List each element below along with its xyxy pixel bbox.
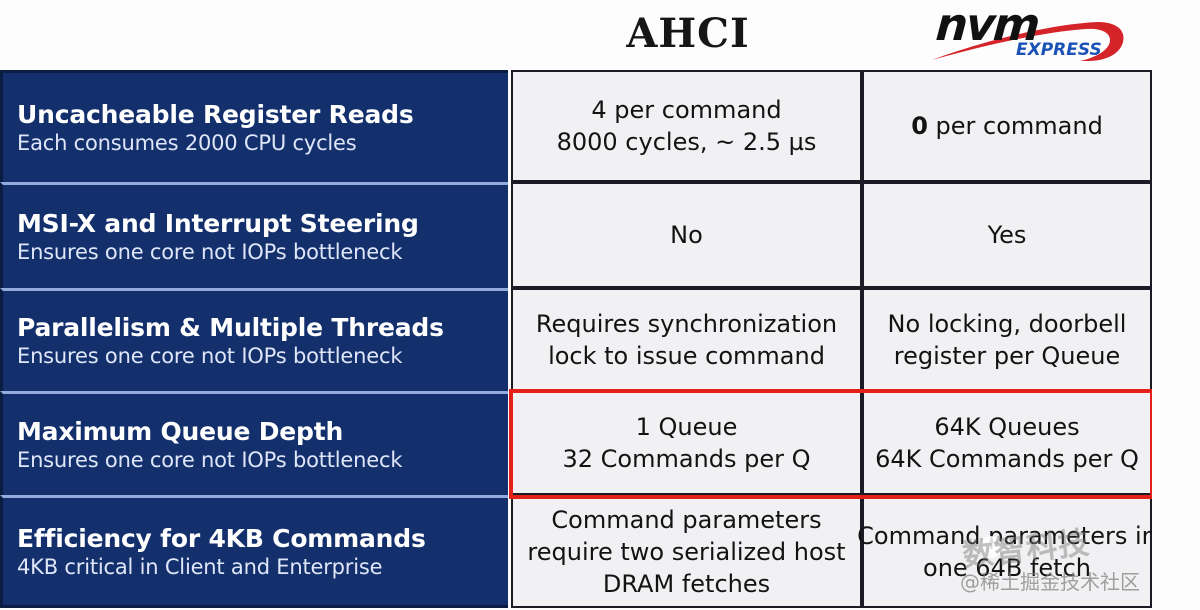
ahci-value-cell: Command parameters require two serialize… (511, 495, 862, 608)
watermark-handle: @稀土掘金技术社区 (960, 570, 1140, 594)
value-line: Yes (988, 219, 1027, 251)
feature-title: MSI-X and Interrupt Steering (17, 208, 508, 239)
comparison-table: Uncacheable Register Reads Each consumes… (0, 70, 1152, 608)
value-line: lock to issue command (548, 340, 825, 372)
value-line: DRAM fetches (603, 568, 770, 600)
ahci-value-cell: 4 per command 8000 cycles, ~ 2.5 µs (511, 70, 862, 182)
feature-subtitle: 4KB critical in Client and Enterprise (17, 554, 508, 581)
feature-title: Uncacheable Register Reads (17, 99, 508, 130)
table-row: Maximum Queue Depth Ensures one core not… (0, 391, 1152, 495)
value-line: No locking, doorbell (888, 308, 1127, 340)
header: AHCI nvm EXPRESS (0, 0, 1200, 70)
nvme-value-cell: 0 per command (862, 70, 1152, 182)
feature-label-cell: Uncacheable Register Reads Each consumes… (0, 70, 508, 182)
value-line: require two serialized host (527, 536, 845, 568)
feature-subtitle: Ensures one core not IOPs bottleneck (17, 447, 508, 474)
feature-label-cell: Efficiency for 4KB Commands 4KB critical… (0, 495, 508, 608)
value-line: 64K Queues (934, 411, 1079, 443)
feature-title: Parallelism & Multiple Threads (17, 312, 508, 343)
column-header-nvme-express-logo: nvm EXPRESS (862, 0, 1152, 68)
ahci-value-cell: No (511, 182, 862, 288)
feature-subtitle: Each consumes 2000 CPU cycles (17, 130, 508, 157)
nvme-value-cell: Yes (862, 182, 1152, 288)
table-row: Uncacheable Register Reads Each consumes… (0, 70, 1152, 182)
nvme-logo-express-text: EXPRESS (1016, 42, 1102, 59)
ahci-value-cell: 1 Queue 32 Commands per Q (511, 391, 862, 495)
value-emphasis: 0 (911, 112, 928, 140)
feature-title: Efficiency for 4KB Commands (17, 523, 508, 554)
ahci-value-cell: Requires synchronization lock to issue c… (511, 288, 862, 391)
value-line: per command (928, 112, 1103, 140)
table-row: Parallelism & Multiple Threads Ensures o… (0, 288, 1152, 391)
feature-label-cell: Maximum Queue Depth Ensures one core not… (0, 391, 508, 495)
nvme-value-cell: No locking, doorbell register per Queue (862, 288, 1152, 391)
value-line: No (670, 219, 703, 251)
feature-subtitle: Ensures one core not IOPs bottleneck (17, 239, 508, 266)
value-line: Requires synchronization (536, 308, 837, 340)
nvme-value-cell: 64K Queues 64K Commands per Q (862, 391, 1152, 495)
column-header-ahci: AHCI (513, 8, 863, 60)
value-line: register per Queue (894, 340, 1121, 372)
table-row: MSI-X and Interrupt Steering Ensures one… (0, 182, 1152, 288)
value-line: 4 per command (591, 94, 781, 126)
feature-label-cell: MSI-X and Interrupt Steering Ensures one… (0, 182, 508, 288)
value-line: Command parameters (551, 504, 821, 536)
value-line: 1 Queue (636, 411, 738, 443)
feature-title: Maximum Queue Depth (17, 416, 508, 447)
value-line: 8000 cycles, ~ 2.5 µs (557, 126, 817, 158)
value-line: 64K Commands per Q (875, 443, 1139, 475)
slide-root: AHCI nvm EXPRESS Uncacheable Register Re… (0, 0, 1200, 610)
feature-subtitle: Ensures one core not IOPs bottleneck (17, 343, 508, 370)
value-line: 32 Commands per Q (562, 443, 810, 475)
feature-label-cell: Parallelism & Multiple Threads Ensures o… (0, 288, 508, 391)
